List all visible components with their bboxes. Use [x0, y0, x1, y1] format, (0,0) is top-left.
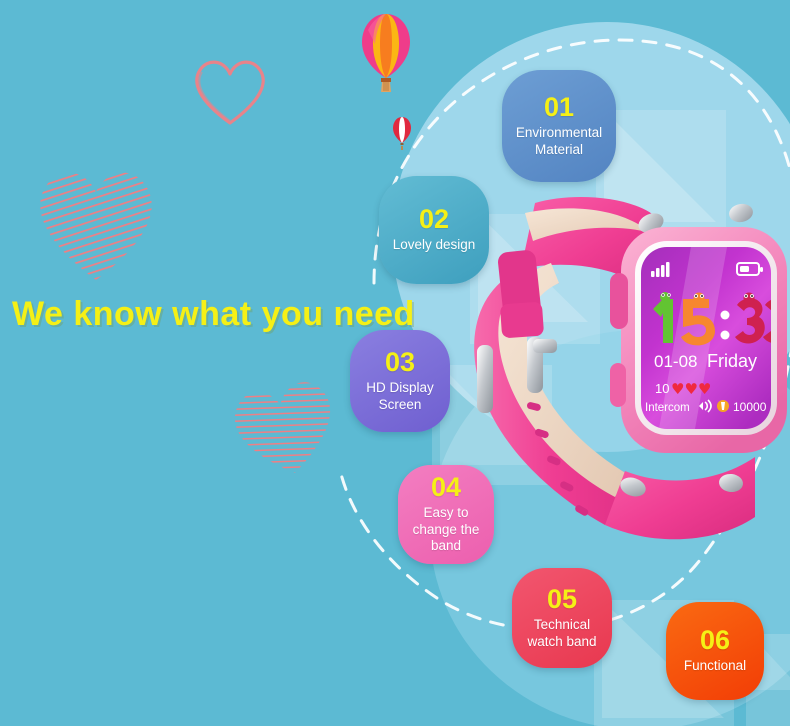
hot-air-balloon-small-icon	[391, 116, 413, 152]
badge-number: 05	[547, 586, 577, 613]
badge-04-easy-to-change-the-band[interactable]: 04 Easy to change the band	[398, 465, 494, 564]
badge-number: 02	[419, 206, 449, 233]
svg-text:10: 10	[655, 381, 669, 396]
infographic-canvas: We know what you need	[0, 0, 790, 726]
badge-caption: Easy to change the band	[398, 505, 494, 554]
svg-text:Intercom: Intercom	[645, 402, 690, 414]
badge-number: 01	[544, 94, 574, 121]
badge-caption: Environmental Material	[502, 125, 616, 158]
badge-caption: HD Display Screen	[350, 380, 450, 413]
heart-outline-sketch	[188, 48, 272, 130]
badge-number: 04	[431, 474, 461, 501]
smart-watch-product-image: 01-08 Friday 10 ♥♥♥ Intercom 10000	[455, 195, 790, 590]
svg-text:Friday: Friday	[707, 351, 757, 371]
page-title: We know what you need	[12, 295, 415, 334]
badge-number: 03	[385, 349, 415, 376]
badge-06-functional[interactable]: 06 Functional	[666, 602, 764, 700]
svg-text:♥♥♥: ♥♥♥	[671, 380, 711, 398]
badge-02-lovely-design[interactable]: 02 Lovely design	[379, 176, 489, 284]
badge-03-hd-display-screen[interactable]: 03 HD Display Screen	[350, 330, 450, 432]
badge-caption: Lovely design	[388, 237, 481, 253]
svg-text:01-08: 01-08	[654, 352, 697, 371]
svg-text:10000: 10000	[733, 400, 767, 414]
badge-05-technical-watch-band[interactable]: 05 Technical watch band	[512, 568, 612, 668]
hot-air-balloon-large-icon	[358, 12, 414, 104]
badge-01-environmental-material[interactable]: 01 Environmental Material	[502, 70, 616, 182]
badge-caption: Functional	[679, 658, 751, 674]
badge-caption: Technical watch band	[512, 617, 612, 650]
badge-number: 06	[700, 627, 730, 654]
heart-hatched-sketch-large	[30, 152, 162, 287]
